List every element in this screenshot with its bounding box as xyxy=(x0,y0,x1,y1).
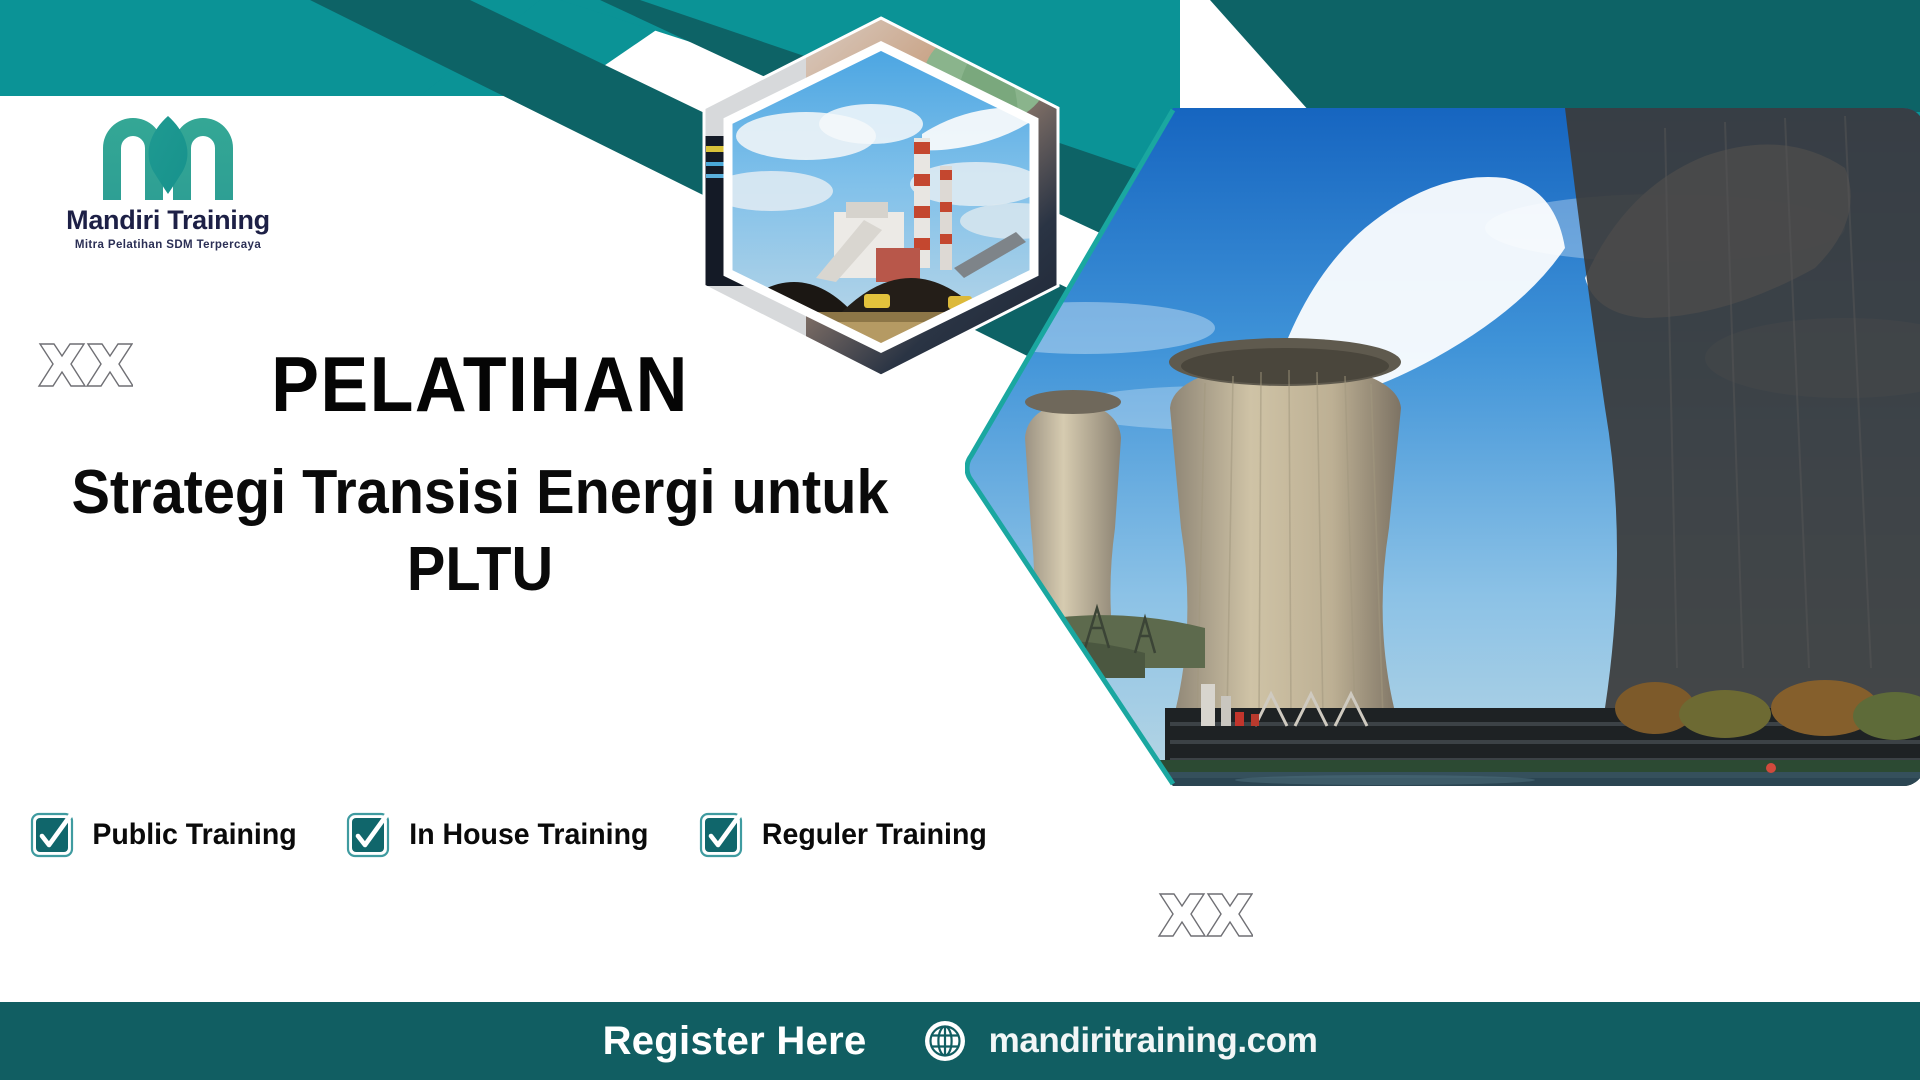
training-option-public[interactable]: Public Training xyxy=(30,812,302,858)
deco-band-topright-dark xyxy=(1210,0,1920,112)
training-option-label: Public Training xyxy=(92,818,296,852)
page-title-line1: Strategi Transisi Energi untuk xyxy=(62,455,899,532)
page-title: Strategi Transisi Energi untuk PLTU xyxy=(62,455,899,609)
training-options-list: Public Training In House Training Regule… xyxy=(30,812,992,858)
website-link[interactable]: mandiritraining.com xyxy=(923,1019,1318,1063)
check-box-icon[interactable] xyxy=(699,812,743,858)
x-cross-outline-icon-bottom xyxy=(1148,888,1253,950)
training-option-label: In House Training xyxy=(409,818,648,852)
globe-icon xyxy=(923,1019,967,1063)
cooling-towers-power-plant-photo xyxy=(965,108,1920,786)
check-box-icon[interactable] xyxy=(30,812,74,858)
headline-block: PELATIHAN Strategi Transisi Energi untuk… xyxy=(30,345,930,609)
brand-logo[interactable]: Mandiri Training Mitra Pelatihan SDM Ter… xyxy=(38,108,298,251)
training-option-label: Reguler Training xyxy=(762,818,987,852)
website-url: mandiritraining.com xyxy=(989,1021,1318,1061)
check-box-icon[interactable] xyxy=(346,812,390,858)
footer-bar: Register Here mandiritraining.com xyxy=(0,1002,1920,1080)
deco-wedge-teal-b xyxy=(0,0,540,96)
deco-band-top-left xyxy=(0,0,700,96)
mandiri-m-logo-icon xyxy=(93,108,243,200)
training-option-inhouse[interactable]: In House Training xyxy=(346,812,655,858)
training-option-reguler[interactable]: Reguler Training xyxy=(699,812,993,858)
page-title-line2: PLTU xyxy=(62,532,899,609)
brand-name: Mandiri Training xyxy=(38,206,298,234)
brand-tagline: Mitra Pelatihan SDM Terpercaya xyxy=(38,239,298,251)
register-cta-label[interactable]: Register Here xyxy=(603,1019,867,1064)
